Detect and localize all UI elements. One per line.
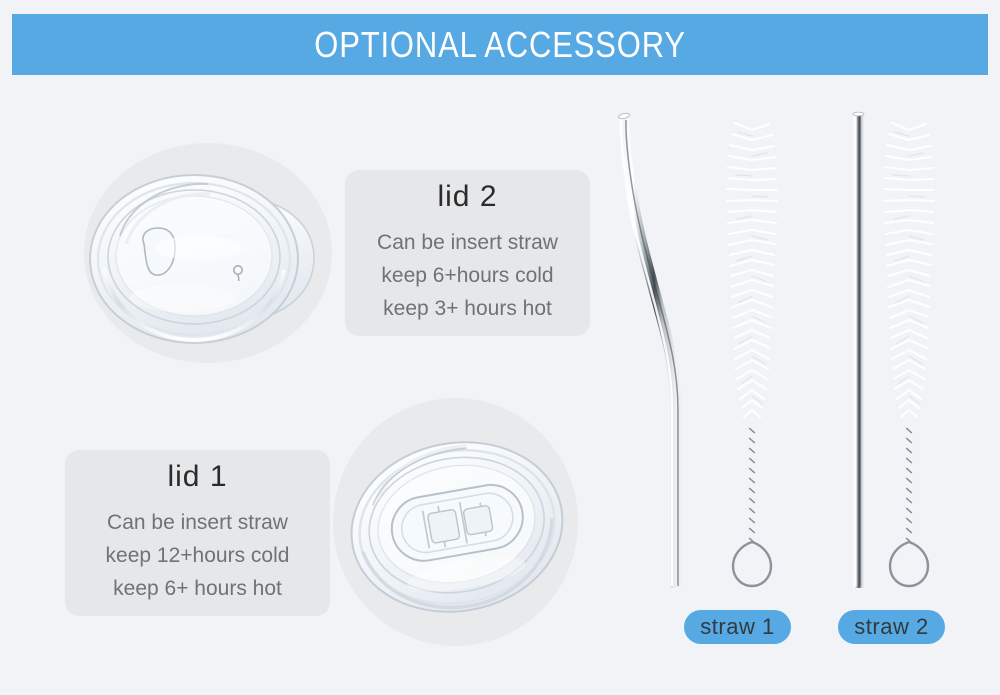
lid-2-line-3: keep 3+ hours hot <box>383 298 552 319</box>
straw-1-label: straw 1 <box>700 614 774 640</box>
lid-1-line-1: Can be insert straw <box>107 512 288 533</box>
lid-2-line-1: Can be insert straw <box>377 232 558 253</box>
lid-1-line-2: keep 12+hours cold <box>106 545 290 566</box>
straw-2-label-pill[interactable]: straw 2 <box>838 610 945 644</box>
lid-1-line-3: keep 6+ hours hot <box>113 578 282 599</box>
straw-2-label: straw 2 <box>854 614 928 640</box>
straw-1-image <box>612 110 802 595</box>
lid-1-image <box>330 425 585 630</box>
lid-2-title: lid 2 <box>437 180 497 214</box>
page-title: OPTIONAL ACCESSORY <box>314 24 686 66</box>
straw-2-image <box>845 110 945 595</box>
lid-1-title: lid 1 <box>167 460 227 494</box>
lid-2-line-2: keep 6+hours cold <box>381 265 553 286</box>
lid-1-card: lid 1 Can be insert straw keep 12+hours … <box>65 450 330 616</box>
lid-2-card: lid 2 Can be insert straw keep 6+hours c… <box>345 170 590 336</box>
header-banner: OPTIONAL ACCESSORY <box>12 14 988 75</box>
straw-1-label-pill[interactable]: straw 1 <box>684 610 791 644</box>
lid-2-image <box>78 158 358 358</box>
